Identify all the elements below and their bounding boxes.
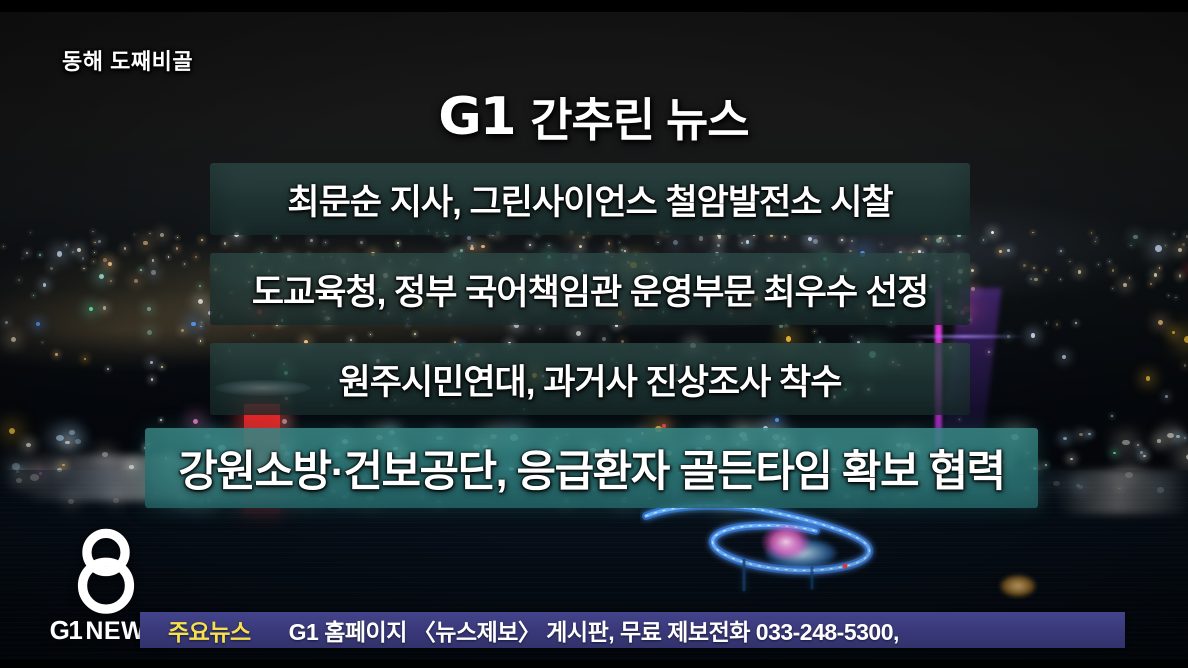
headline-item-2[interactable]: 도교육청, 정부 국어책임관 운영부문 최우수 선정 [210,253,970,325]
headline-item-3[interactable]: 원주시민연대, 과거사 진상조사 착수 [210,343,970,415]
headline-text-4: 강원소방·건보공단, 응급환자 골든타임 확보 협력 [178,437,1004,499]
headline-item-1[interactable]: 최문순 지사, 그린사이언스 철암발전소 시찰 [210,163,970,235]
ticker-message-text: G1 홈페이지 〈뉴스제보〉 게시판, 무료 제보전화 033-248-5300… [289,613,899,647]
headline-text-3: 원주시민연대, 과거사 진상조사 착수 [339,354,842,405]
eight-logo-icon [63,528,149,614]
letterbox-top [0,0,1188,12]
show-title-name: 간추린 뉴스 [530,84,748,150]
headline-item-4-highlighted[interactable]: 강원소방·건보공단, 응급환자 골든타임 확보 협력 [145,428,1038,508]
logo-brand-text: G1 [50,615,82,646]
show-title-brand: G1 [439,87,515,147]
headline-text-2: 도교육청, 정부 국어책임관 운영부문 최우수 선정 [252,264,928,315]
headline-text-1: 최문순 지사, 그린사이언스 철암발전소 시찰 [287,174,892,225]
letterbox-bottom [0,660,1188,668]
news-ticker-bar[interactable]: 주요뉴스 G1 홈페이지 〈뉴스제보〉 게시판, 무료 제보전화 033-248… [140,612,1125,648]
ticker-category-label: 주요뉴스 [168,613,251,647]
broadcast-screen: 동해 도째비골 G1 간추린 뉴스 최문순 지사, 그린사이언스 철암발전소 시… [0,0,1188,668]
location-label: 동해 도째비골 [62,44,193,76]
show-title: G1 간추린 뉴스 [0,84,1188,150]
